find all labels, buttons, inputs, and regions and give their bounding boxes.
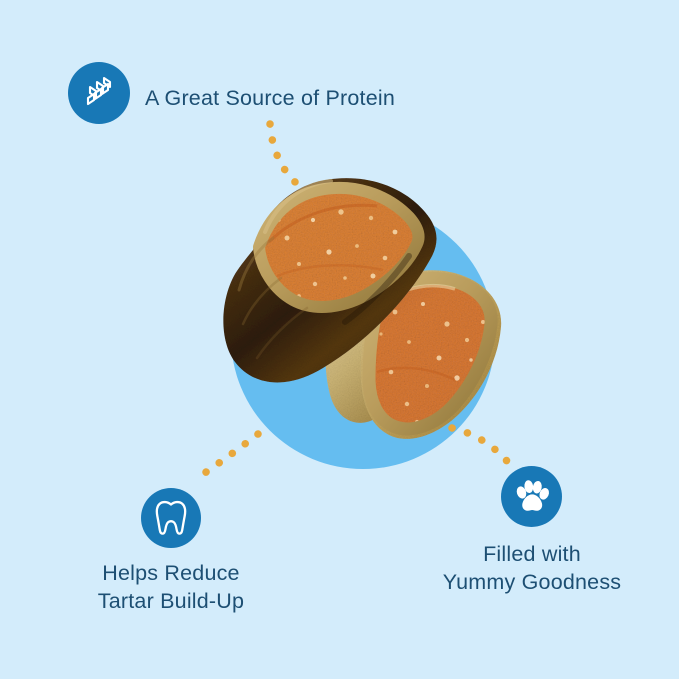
badge-protein[interactable] — [68, 62, 130, 124]
dna-icon — [79, 73, 119, 113]
product-image — [195, 172, 515, 457]
product-feature-infographic: A Great Source of Protein Helps Reduce T… — [0, 0, 679, 679]
tooth-icon — [154, 499, 188, 537]
badge-tartar[interactable] — [141, 488, 201, 548]
feature-label-goodness: Filled with Yummy Goodness — [402, 541, 662, 597]
feature-label-protein: A Great Source of Protein — [145, 85, 395, 113]
paw-icon — [513, 479, 551, 515]
badge-paw[interactable] — [501, 466, 562, 527]
feature-label-tartar: Helps Reduce Tartar Build-Up — [41, 560, 301, 616]
